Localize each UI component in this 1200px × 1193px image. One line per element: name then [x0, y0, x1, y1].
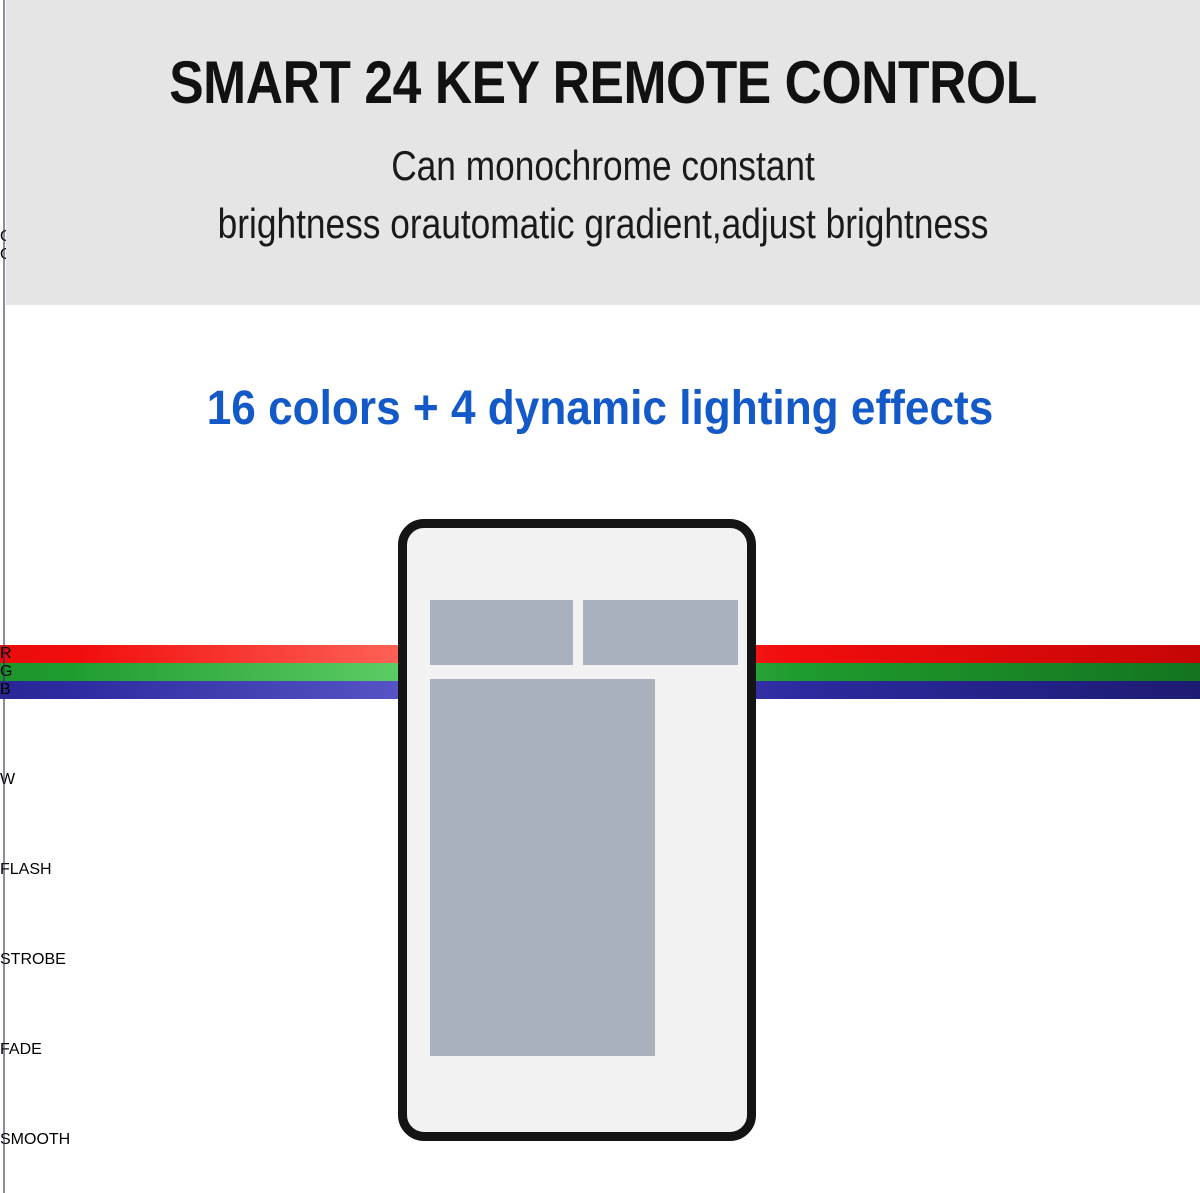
color-grid-outline: [0, 264, 229, 645]
flash-group-outline: [0, 789, 82, 861]
brightness-button-group: [430, 600, 573, 665]
power-button-group: [583, 600, 738, 665]
header-subtitle-line1: Can monochrome constant: [102, 142, 1105, 190]
header-subtitle-line2: brightness orautomatic gradient,adjust b…: [102, 200, 1105, 248]
feature-headline: 16 colors + 4 dynamic lighting effects: [48, 381, 1152, 436]
strobe-group-outline: [0, 879, 82, 951]
callout-line-brightness-down-v: [0, 1149, 1200, 1165]
header-band: SMART 24 KEY REMOTE CONTROL Can monochro…: [6, 0, 1200, 305]
fade-group-outline: [0, 969, 82, 1041]
product-infographic: SMART 24 KEY REMOTE CONTROL Can monochro…: [0, 0, 1200, 1193]
color-button-grid: [430, 679, 655, 1056]
white-group-outline: [0, 699, 82, 771]
page-title: SMART 24 KEY REMOTE CONTROL: [90, 48, 1117, 117]
smooth-group-outline: [0, 1059, 82, 1131]
callout-line-brightness-down-v2: [0, 1165, 1200, 1193]
left-edge-rule: [3, 0, 5, 1193]
